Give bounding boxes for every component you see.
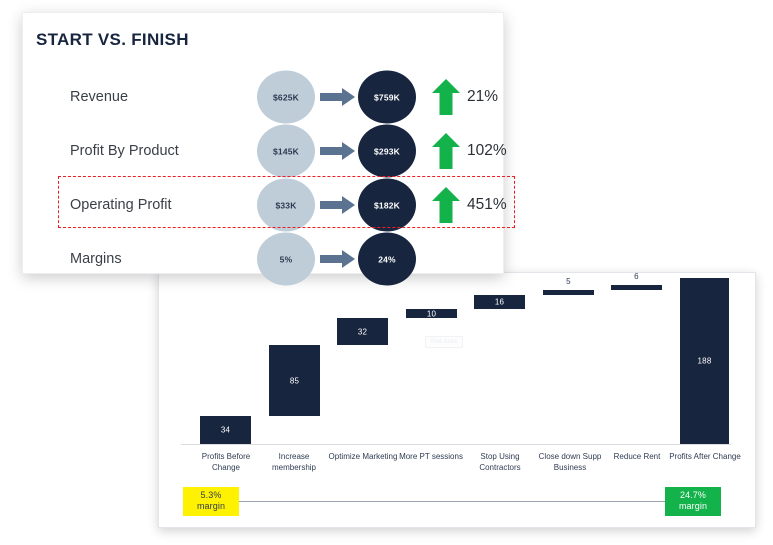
screenshot-root: 34 85 32 10 16 5 6 188 — [0, 0, 773, 545]
plot-area-tag: Plot Area — [425, 336, 463, 348]
start-vs-finish-card: START VS. FINISH Revenue $625K $759K 21% — [22, 12, 504, 274]
summary-row-profit-by-product[interactable]: Profit By Product $145K $293K 102% — [23, 124, 505, 178]
row-label: Operating Profit — [70, 197, 172, 213]
start-value-circle: $145K — [257, 125, 315, 178]
bar-value-label: 6 — [611, 272, 662, 281]
x-axis-label-1: Increase membership — [256, 451, 332, 473]
summary-row-revenue[interactable]: Revenue $625K $759K 21% — [23, 70, 505, 124]
bar-value-label: 188 — [680, 357, 729, 366]
margin-end-value: 24.7% — [680, 490, 706, 500]
transition-arrow-icon — [320, 140, 356, 162]
x-axis-label-2: Optimize Marketing — [325, 451, 401, 462]
x-axis-label-5: Close down Supp Business — [530, 451, 610, 473]
margin-badge-end: 24.7% margin — [665, 487, 721, 516]
summary-row-margins[interactable]: Margins 5% 24% — [23, 232, 505, 286]
bar-stop-using-contractors[interactable]: 16 — [474, 295, 525, 309]
bar-profits-before-change[interactable]: 34 — [200, 416, 251, 444]
summary-row-operating-profit[interactable]: Operating Profit $33K $182K 451% — [23, 178, 505, 232]
bar-reduce-rent[interactable]: 6 — [611, 285, 662, 290]
change-percent: 451% — [467, 196, 507, 214]
x-axis-label-7: Profits After Change — [667, 451, 743, 462]
start-value: 5% — [280, 254, 293, 264]
x-axis-label-4: Stop Using Contractors — [462, 451, 538, 473]
end-value: $293K — [374, 146, 400, 156]
bar-value-label: 34 — [200, 426, 251, 435]
end-value-circle: $759K — [358, 71, 416, 124]
start-value: $625K — [273, 92, 299, 102]
bar-close-down-supp-business[interactable]: 5 — [543, 290, 594, 295]
end-value-circle: $293K — [358, 125, 416, 178]
margin-start-value: 5.3% — [201, 490, 222, 500]
bar-value-label: 85 — [269, 376, 320, 385]
end-value-circle: 24% — [358, 233, 416, 286]
bar-value-label: 32 — [337, 327, 388, 336]
bar-value-label: 5 — [543, 277, 594, 286]
margin-end-unit: margin — [679, 501, 707, 511]
x-axis-label-3: More PT sessions — [393, 451, 469, 462]
start-value-circle: $33K — [257, 179, 315, 232]
margin-badge-start: 5.3% margin — [183, 487, 239, 516]
x-axis-label-0: Profits Before Change — [188, 451, 264, 473]
arrow-up-icon — [432, 133, 460, 169]
start-value: $145K — [273, 146, 299, 156]
arrow-up-icon — [432, 187, 460, 223]
bar-value-label: 16 — [474, 298, 525, 307]
arrow-up-icon — [432, 79, 460, 115]
row-label: Revenue — [70, 89, 128, 105]
chart-baseline-axis — [181, 444, 731, 445]
transition-arrow-icon — [320, 248, 356, 270]
start-value: $33K — [275, 200, 296, 210]
transition-arrow-icon — [320, 86, 356, 108]
row-label: Margins — [70, 251, 122, 267]
row-label: Profit By Product — [70, 143, 179, 159]
change-percent: 21% — [467, 88, 498, 106]
bar-optimize-marketing[interactable]: 32 — [337, 318, 388, 345]
end-value: $759K — [374, 92, 400, 102]
x-axis-label-6: Reduce Rent — [599, 451, 675, 462]
end-value: $182K — [374, 200, 400, 210]
start-value-circle: 5% — [257, 233, 315, 286]
transition-arrow-icon — [320, 194, 356, 216]
end-value-circle: $182K — [358, 179, 416, 232]
bar-value-label: 10 — [406, 309, 457, 318]
change-percent: 102% — [467, 142, 507, 160]
end-value: 24% — [378, 254, 396, 264]
margin-start-unit: margin — [197, 501, 225, 511]
page-title: START VS. FINISH — [36, 30, 189, 50]
start-value-circle: $625K — [257, 71, 315, 124]
margin-connector-line — [215, 501, 665, 502]
bar-increase-membership[interactable]: 85 — [269, 345, 320, 416]
bar-profits-after-change[interactable]: 188 — [680, 278, 729, 444]
bar-more-pt-sessions[interactable]: 10 — [406, 309, 457, 318]
